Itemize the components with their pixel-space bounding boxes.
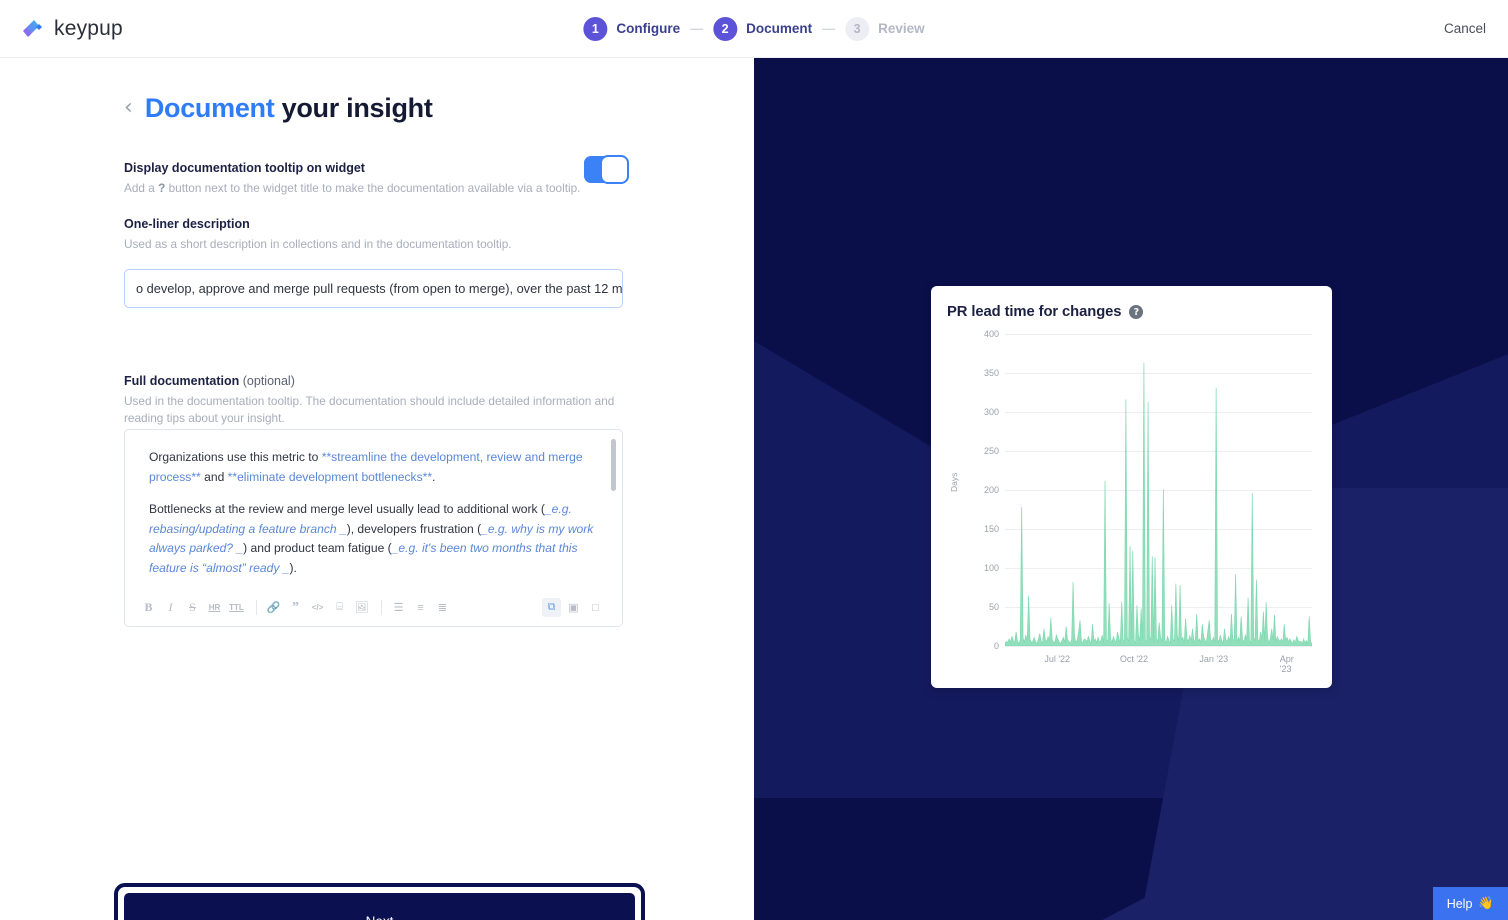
page-title-text: Document your insight <box>145 93 433 124</box>
p2-b: ), developers frustration ( <box>347 522 481 536</box>
heading-icon[interactable]: TTL <box>227 598 246 617</box>
next-button-focus-ring: Next <box>114 883 645 920</box>
editor-paragraph-2: Bottlenecks at the review and merge leve… <box>149 500 600 578</box>
editor-toolbar: B I S HR TTL 🔗 ” </> ⌸ 🖼 ☰ ≡ ≣ ⧉ ▣ □ <box>125 589 622 626</box>
view-fullscreen-icon[interactable]: □ <box>586 598 605 617</box>
wizard-stepper: 1 Configure — 2 Document — 3 Review <box>583 17 924 41</box>
tooltip-toggle-switch[interactable] <box>584 156 629 183</box>
chart-area-series <box>1005 363 1312 646</box>
p2-a: Bottlenecks at the review and merge leve… <box>149 502 545 516</box>
align-list-icon[interactable]: ☰ <box>389 598 408 617</box>
strikethrough-icon[interactable]: S <box>183 598 202 617</box>
code-block-icon[interactable]: ⌸ <box>330 598 349 617</box>
page-title-highlight: Document <box>145 93 275 123</box>
chart-y-tick: 250 <box>961 446 999 456</box>
step-configure-number: 1 <box>583 17 607 41</box>
brand-logo-group[interactable]: keypup <box>18 15 123 43</box>
chart-y-tick: 50 <box>961 602 999 612</box>
chart-x-tick: Jul '22 <box>1044 654 1070 664</box>
tooltip-toggle-label: Display documentation tooltip on widget <box>124 161 624 175</box>
step-review[interactable]: 3 Review <box>845 17 925 41</box>
page-title: ‹ Document your insight <box>124 93 433 124</box>
cancel-button[interactable]: Cancel <box>1444 21 1486 36</box>
oneliner-label: One-liner description <box>124 217 624 231</box>
p1-c: . <box>432 470 435 484</box>
toggle-knob <box>600 155 629 184</box>
oneliner-help: Used as a short description in collectio… <box>124 236 624 253</box>
editor-scrollbar[interactable] <box>611 439 616 491</box>
waving-hand-icon: 👋 <box>1478 896 1494 911</box>
widget-preview-card: PR lead time for changes ? Days 05010015… <box>931 286 1332 688</box>
ordered-list-icon[interactable]: ≡ <box>411 598 430 617</box>
chart-plot-area <box>1005 334 1312 646</box>
oneliner-input[interactable]: o develop, approve and merge pull reques… <box>124 269 623 308</box>
code-icon[interactable]: </> <box>308 598 327 617</box>
chart-series-svg <box>1005 334 1312 646</box>
widget-title: PR lead time for changes <box>947 304 1121 320</box>
keypup-logo-icon <box>18 15 46 43</box>
oneliner-field-block: One-liner description Used as a short de… <box>124 217 624 308</box>
fulldoc-label-bold: Full documentation <box>124 374 239 388</box>
italic-icon[interactable]: I <box>161 598 180 617</box>
next-button[interactable]: Next <box>124 893 635 920</box>
link-icon[interactable]: 🔗 <box>264 598 283 617</box>
toolbar-view-group: ⧉ ▣ □ <box>542 598 608 617</box>
fulldoc-field-block: Full documentation (optional) Used in th… <box>124 374 624 427</box>
view-preview-icon[interactable]: ▣ <box>564 598 583 617</box>
step-review-number: 3 <box>845 17 869 41</box>
fulldoc-label-optional: (optional) <box>239 374 295 388</box>
chevron-left-icon[interactable]: ‹ <box>124 97 133 119</box>
fulldoc-editor[interactable]: Organizations use this metric to **strea… <box>124 429 623 627</box>
chart-x-tick: Oct '22 <box>1120 654 1148 664</box>
help-button[interactable]: Help 👋 <box>1433 887 1508 920</box>
app-root: keypup 1 Configure — 2 Document — 3 Revi… <box>0 0 1508 920</box>
tooltip-toggle-row: Display documentation tooltip on widget … <box>124 161 624 197</box>
editor-paragraph-1: Organizations use this metric to **strea… <box>149 448 600 487</box>
bold-icon[interactable]: B <box>139 598 158 617</box>
chart-y-tick: 100 <box>961 563 999 573</box>
fulldoc-help: Used in the documentation tooltip. The d… <box>124 393 624 427</box>
chart-x-tick: Apr '23 <box>1280 654 1302 674</box>
step-separator-1: — <box>690 21 703 36</box>
p1-blue2: **eliminate development bottlenecks** <box>228 470 432 484</box>
p2-c: ) and product team fatigue ( <box>243 541 392 555</box>
step-document[interactable]: 2 Document <box>713 17 812 41</box>
oneliner-input-value: o develop, approve and merge pull reques… <box>136 281 623 296</box>
quote-icon[interactable]: ” <box>286 598 305 617</box>
left-form-panel: ‹ Document your insight Display document… <box>0 58 754 920</box>
step-review-label: Review <box>878 21 925 36</box>
p1-b: and <box>201 470 228 484</box>
preview-panel: PR lead time for changes ? Days 05010015… <box>754 58 1508 920</box>
step-configure[interactable]: 1 Configure <box>583 17 680 41</box>
bullet-list-icon[interactable]: ≣ <box>433 598 452 617</box>
help-prefix: Add a <box>124 181 158 195</box>
help-button-label: Help <box>1447 897 1473 911</box>
brand-name: keypup <box>54 17 123 41</box>
chart-y-tick: 350 <box>961 368 999 378</box>
chart-y-tick: 300 <box>961 407 999 417</box>
toolbar-divider-2 <box>381 600 382 615</box>
chart-y-tick: 400 <box>961 329 999 339</box>
question-mark-icon[interactable]: ? <box>1129 305 1143 319</box>
step-document-label: Document <box>746 21 812 36</box>
image-icon[interactable]: 🖼 <box>352 598 371 617</box>
fulldoc-label: Full documentation (optional) <box>124 374 624 388</box>
chart-y-tick: 200 <box>961 485 999 495</box>
chart-y-tick: 150 <box>961 524 999 534</box>
chart-y-tick: 0 <box>961 641 999 651</box>
toolbar-divider-1 <box>256 600 257 615</box>
tooltip-toggle-help: Add a ? button next to the widget title … <box>124 180 624 197</box>
step-configure-label: Configure <box>616 21 680 36</box>
chart-y-axis-label: Days <box>949 473 959 492</box>
horizontal-rule-icon[interactable]: HR <box>205 598 224 617</box>
page-title-rest: your insight <box>274 93 432 123</box>
step-document-number: 2 <box>713 17 737 41</box>
view-split-editor-icon[interactable]: ⧉ <box>542 598 561 617</box>
chart-gridline <box>1005 646 1312 647</box>
help-suffix: button next to the widget title to make … <box>165 181 580 195</box>
p1-a: Organizations use this metric to <box>149 450 322 464</box>
pr-lead-time-chart: Days 050100150200250300350400 Jul '22Oct… <box>947 334 1312 674</box>
fulldoc-editor-body[interactable]: Organizations use this metric to **strea… <box>125 430 622 585</box>
top-bar: keypup 1 Configure — 2 Document — 3 Revi… <box>0 0 1508 58</box>
step-separator-2: — <box>822 21 835 36</box>
p2-d: ). <box>289 561 296 575</box>
widget-header: PR lead time for changes ? <box>947 304 1312 320</box>
chart-x-tick: Jan '23 <box>1199 654 1228 664</box>
